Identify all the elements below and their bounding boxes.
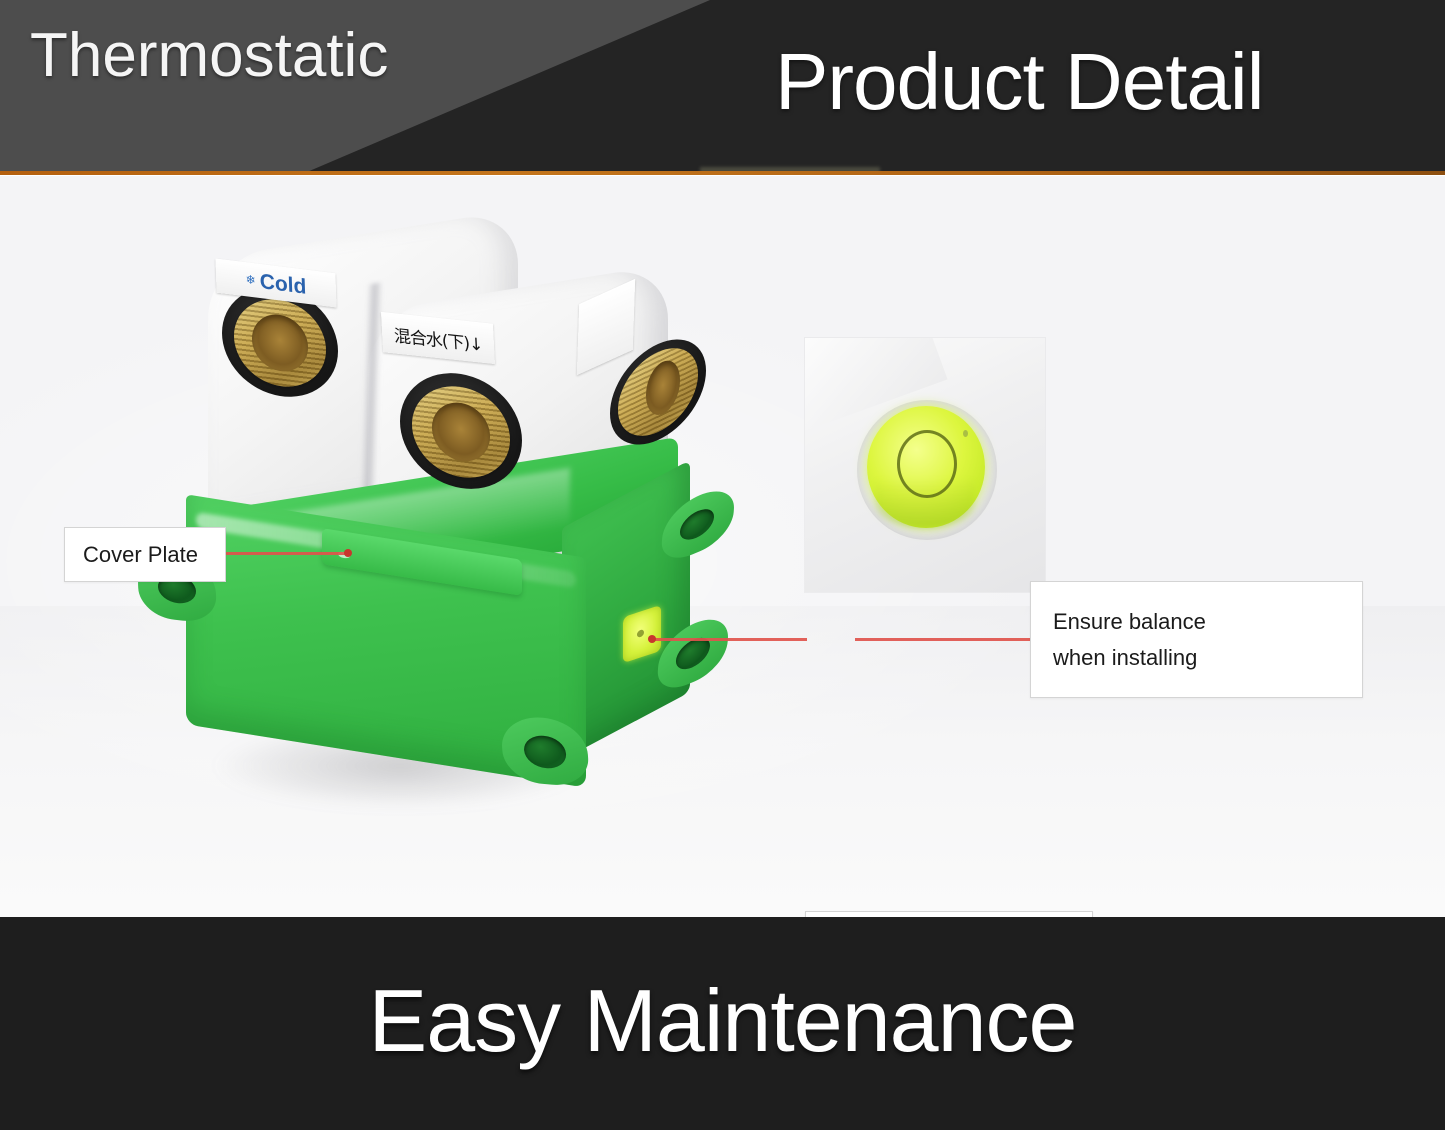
inset-bubble-ring-marking: [897, 430, 957, 498]
product-photo-stage: ❄ Cold 混合水(下)↓ Cov: [0, 176, 1445, 917]
bottom-banner: Easy Maintenance: [0, 917, 1445, 1130]
header-left-title: Thermostatic: [30, 20, 388, 91]
leader-line-inset-to-label: [855, 638, 1033, 641]
brass-port-mixed-outlet: [400, 364, 522, 497]
mounting-hole-bottom: [523, 734, 567, 770]
header-right-title: Product Detail: [775, 36, 1263, 128]
leader-dot-cover-plate: [344, 549, 352, 557]
leader-line-cover-plate: [226, 552, 350, 555]
snowflake-icon: ❄: [245, 273, 255, 286]
sticker-cold-label: Cold: [259, 270, 306, 297]
inset-bubble-speck: [963, 430, 968, 437]
callout-ensure-balance-line2: when installing: [1053, 647, 1197, 669]
leader-line-level-to-inset: [652, 638, 807, 641]
callout-cover-plate-label: Cover Plate: [83, 542, 198, 568]
banner-underline: [0, 171, 1445, 175]
product-detail-page: Thermostatic Product Detail: [0, 0, 1445, 1130]
callout-ensure-balance: Ensure balance when installing: [1030, 581, 1363, 698]
top-banner: Thermostatic Product Detail: [0, 0, 1445, 175]
mounting-hole-right-top: [679, 504, 715, 545]
callout-ensure-balance-line1: Ensure balance: [1053, 611, 1206, 633]
bubble-level-inset-photo: [805, 338, 1045, 592]
callout-cover-plate: Cover Plate: [64, 527, 226, 582]
footer-title: Easy Maintenance: [369, 970, 1077, 1072]
leader-dot-level: [648, 635, 656, 643]
